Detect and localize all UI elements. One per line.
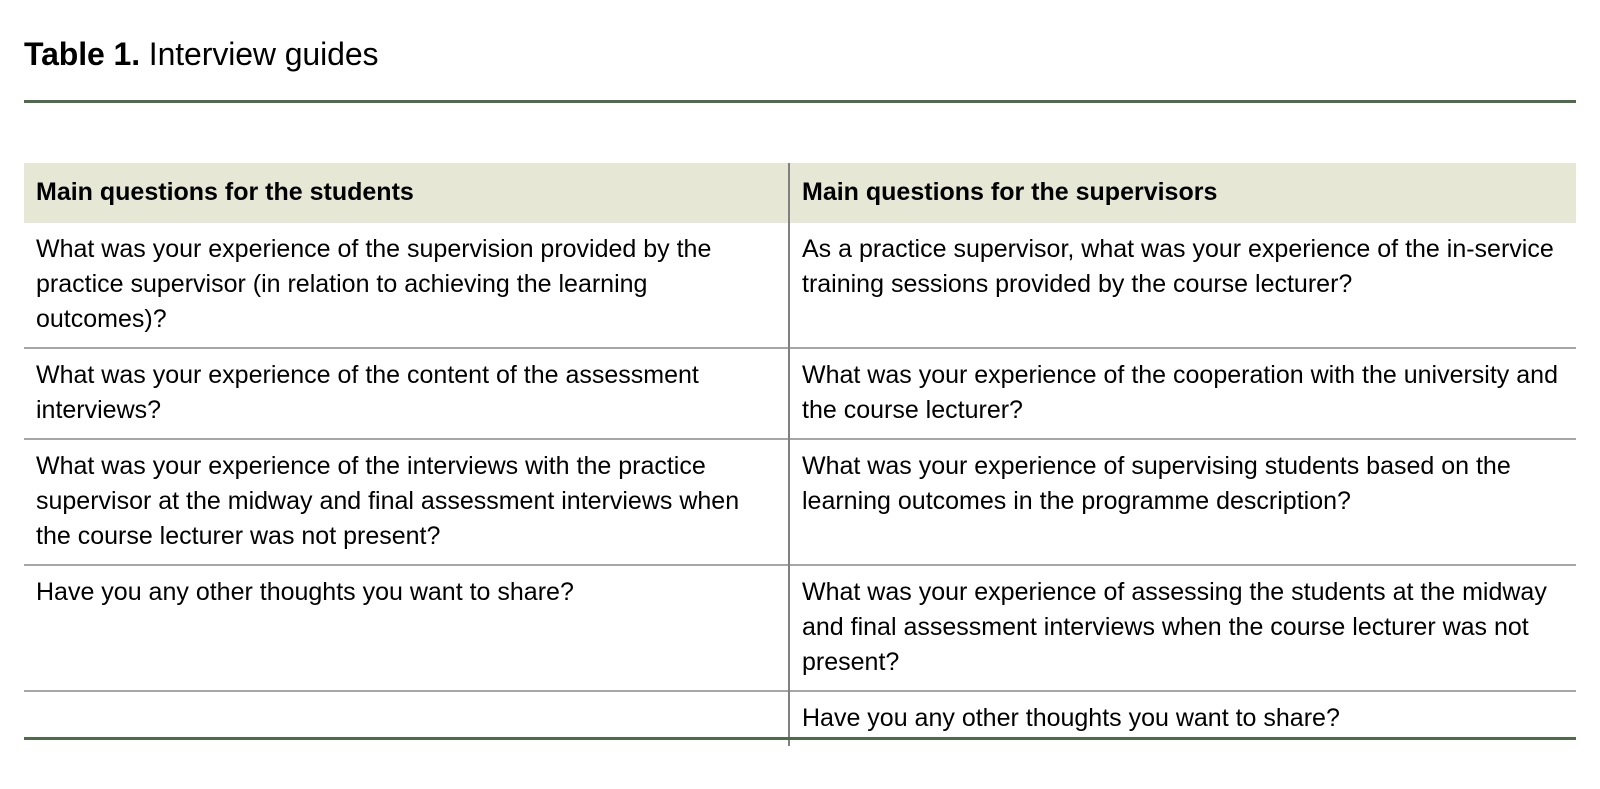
cell-supervisors-question-2: What was your experience of the cooperat… [789,348,1576,439]
cell-supervisors-question-4: What was your experience of assessing th… [789,565,1576,691]
table-row: What was your experience of the intervie… [24,439,1576,565]
column-header-students: Main questions for the students [24,163,789,223]
table-row: What was your experience of the content … [24,348,1576,439]
table-row: What was your experience of the supervis… [24,223,1576,348]
cell-students-question-3: What was your experience of the intervie… [24,439,789,565]
table-caption-label: Table 1. [24,36,140,72]
table-bottom-rule [24,737,1576,740]
cell-supervisors-question-1: As a practice supervisor, what was your … [789,223,1576,348]
interview-guides-table-wrapper: Main questions for the students Main que… [24,163,1576,746]
table-caption-text: Interview guides [149,36,379,72]
table-body: What was your experience of the supervis… [24,223,1576,746]
cell-students-question-4: Have you any other thoughts you want to … [24,565,789,691]
table-row: Have you any other thoughts you want to … [24,565,1576,691]
cell-students-question-2: What was your experience of the content … [24,348,789,439]
table-top-rule [24,100,1576,103]
table-caption: Table 1. Interview guides [24,34,378,74]
table-page: Table 1. Interview guides Main questions… [0,0,1600,789]
cell-students-question-1: What was your experience of the supervis… [24,223,789,348]
table-header-row-group: Main questions for the students Main que… [24,163,1576,223]
table-header-row: Main questions for the students Main que… [24,163,1576,223]
interview-guides-table: Main questions for the students Main que… [24,163,1576,746]
cell-supervisors-question-3: What was your experience of supervising … [789,439,1576,565]
column-header-supervisors: Main questions for the supervisors [789,163,1576,223]
